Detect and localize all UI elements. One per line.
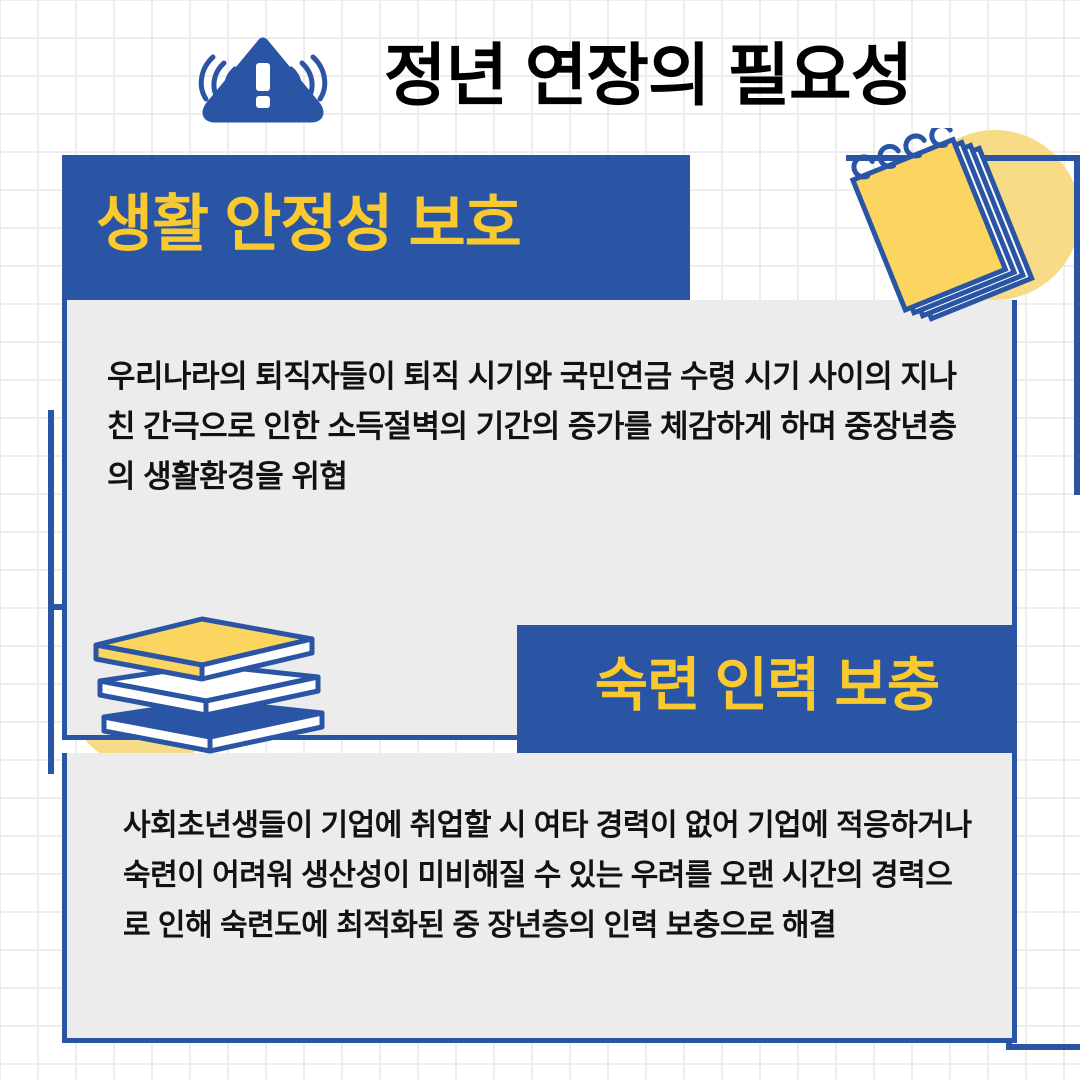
card-life-stability-text: 우리나라의 퇴직자들이 퇴직 시기와 국민연금 수령 시기 사이의 지나친 간극…: [107, 352, 972, 503]
card-skilled-workforce-text: 사회초년생들이 기업에 취업할 시 여타 경력이 없어 기업에 적응하거나 숙련…: [123, 801, 972, 950]
card-skilled-workforce-body: 사회초년생들이 기업에 취업할 시 여타 경력이 없어 기업에 적응하거나 숙련…: [62, 753, 1017, 1043]
stacked-books-icon: [60, 605, 340, 770]
spiral-notepad-icon: [845, 128, 1050, 343]
page-title: 정년 연장의 필요성: [384, 42, 912, 116]
blue-bracket-bottom-right: [1006, 860, 1080, 1050]
blue-bracket-right-middle: [1010, 560, 1080, 860]
card-skilled-workforce-header: 숙련 인력 보충: [517, 625, 1017, 753]
card-life-stability-heading: 생활 안정성 보호: [96, 194, 521, 262]
card-skilled-workforce-heading: 숙련 인력 보충: [595, 657, 939, 721]
card-life-stability-header: 생활 안정성 보호: [62, 155, 690, 300]
warning-alert-icon: [168, 29, 358, 129]
page-header: 정년 연장의 필요성: [0, 24, 1080, 134]
